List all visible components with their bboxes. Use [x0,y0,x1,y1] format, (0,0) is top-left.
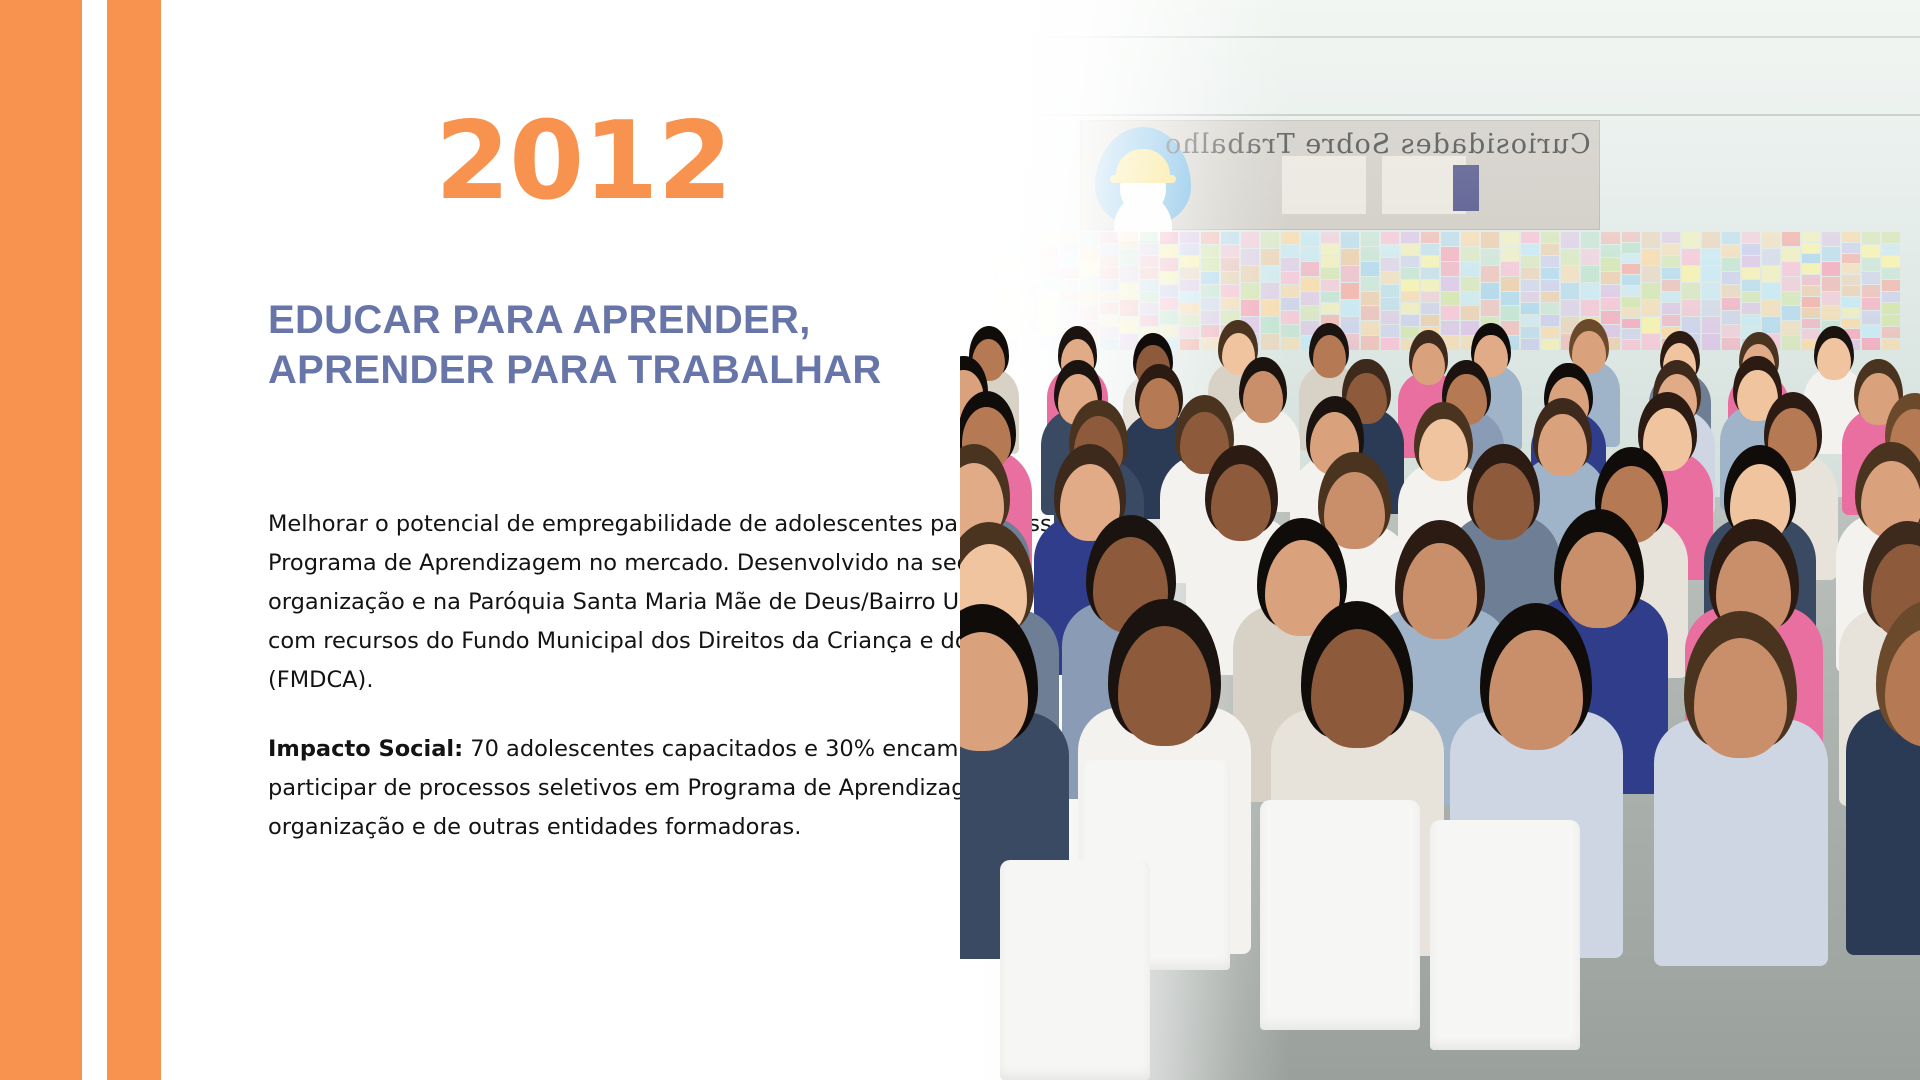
chart-cell [1301,277,1319,291]
chart-cell [1401,268,1419,279]
chart-cell [1201,338,1219,350]
chart-cell [1321,292,1339,303]
chart-cell [1441,232,1459,246]
chart-cell [1702,283,1720,299]
chart-cell [1762,249,1780,265]
chart-cell [1862,272,1880,284]
chart-cell [1341,266,1359,282]
chart-cell [1341,232,1359,248]
chart-cell [1221,272,1239,284]
chart-cell [1281,285,1299,297]
chart-cell [1762,232,1780,248]
chart-cell [1381,272,1399,284]
chart-cell [1742,292,1760,303]
student-head [1243,371,1283,423]
project-title: EDUCAR PARA APRENDER, APRENDER PARA TRAB… [268,296,1148,395]
chart-cell [1601,232,1619,244]
chart-strip [1180,232,1198,350]
chart-cell [1221,245,1239,257]
chart-cell [1221,298,1239,310]
chart-cell [1541,244,1559,255]
chart-cell [1381,298,1399,310]
student-torso [1846,708,1920,955]
chart-cell [1281,272,1299,284]
chart-cell [1521,339,1539,350]
chart-cell [1862,311,1880,323]
chart-cell [1601,285,1619,297]
chart-cell [1501,232,1519,246]
chart-cell [1461,247,1479,261]
chart-cell [1882,268,1900,279]
chart-cell [1762,266,1780,282]
chart-cell [1822,277,1840,291]
plastic-chair [1260,800,1420,1030]
chart-cell [1180,256,1198,267]
chart-cell [1401,244,1419,255]
chart-cell [1401,256,1419,267]
chart-strip [1702,232,1720,350]
chart-cell [1742,256,1760,267]
chart-cell [1261,266,1279,282]
chart-cell [1622,286,1640,296]
chart-cell [1441,262,1459,276]
chart-cell [1180,280,1198,291]
chart-cell [1742,303,1760,314]
chart-cell [1682,232,1700,248]
chart-strip [1201,232,1219,350]
chart-cell [1862,258,1880,270]
chart-cell [1642,283,1660,299]
chart-cell [1180,315,1198,326]
chart-cell [1862,298,1880,310]
slide-root: Curiosidades Sobre Trabalho 2012 EDUCAR … [0,0,1920,1080]
chart-cell [1521,303,1539,314]
chart-cell [1662,303,1680,314]
chart-cell [1561,300,1579,316]
chart-cell [1501,262,1519,276]
chart-cell [1481,283,1499,299]
chart-cell [1361,262,1379,276]
chart-cell [1501,247,1519,261]
chart-cell [1521,292,1539,303]
chart-cell [1180,303,1198,314]
chart-cell [1722,232,1740,244]
chart-cell [1682,283,1700,299]
chart-cell [1381,338,1399,350]
chart-cell [1541,315,1559,326]
chart-cell [1601,311,1619,323]
chart-cell [1361,336,1379,350]
chart-cell [1381,232,1399,244]
chart-cell [1842,308,1860,318]
chart-cell [1742,244,1760,255]
chart-cell [1842,243,1860,253]
chart-cell [1882,339,1900,350]
chart-strip [1281,232,1299,350]
chart-cell [1361,306,1379,320]
chart-cell [1241,232,1259,248]
chart-cell [1481,266,1499,282]
chart-cell [1201,258,1219,270]
chart-cell [1862,285,1880,297]
chart-cell [1782,262,1800,276]
chart-cell [1642,317,1660,333]
chart-cell [1762,283,1780,299]
orange-bar-thin [107,0,161,1080]
chart-cell [1201,245,1219,257]
chart-cell [1301,306,1319,320]
chart-cell [1281,258,1299,270]
chart-cell [1662,256,1680,267]
chart-cell [1642,266,1660,282]
chart-cell [1421,315,1439,326]
chart-cell [1742,232,1760,243]
chart-strip [1882,232,1900,350]
chart-strip [1642,232,1660,350]
chart-cell [1601,245,1619,257]
chart-cell [1201,298,1219,310]
chart-cell [1281,245,1299,257]
chart-cell [1742,280,1760,291]
chart-cell [1421,292,1439,303]
chart-cell [1581,283,1599,299]
chart-strip [1722,232,1740,350]
chart-cell [1702,317,1720,333]
chart-cell [1541,303,1559,314]
chart-cell [1241,249,1259,265]
chart-cell [1421,232,1439,243]
chart-cell [1882,256,1900,267]
chart-cell [1421,256,1439,267]
chart-cell [1842,297,1860,307]
chart-cell [1521,232,1539,243]
chart-cell [1401,280,1419,291]
chart-cell [1601,298,1619,310]
chart-cell [1481,249,1499,265]
chart-cell [1601,258,1619,270]
chart-cell [1722,258,1740,270]
chart-cell [1662,232,1680,243]
chart-strip [1401,232,1419,350]
student-head [1817,338,1850,380]
chart-cell [1541,232,1559,243]
chart-cell [1581,232,1599,248]
chart-cell [1341,249,1359,265]
chart-strip [1261,232,1279,350]
poster-column-1 [1281,155,1367,215]
chart-cell [1702,249,1720,265]
chart-cell [1882,232,1900,243]
chart-cell [1441,306,1459,320]
chart-cell [1581,266,1599,282]
chart-cell [1702,334,1720,350]
chart-cell [1441,247,1459,261]
plastic-chair [1000,860,1150,1080]
chart-cell [1241,300,1259,316]
chart-cell [1421,303,1439,314]
chart-cell [1201,272,1219,284]
chart-cell [1862,325,1880,337]
chart-cell [1180,339,1198,350]
chart-cell [1842,264,1860,274]
chart-cell [1301,262,1319,276]
chart-cell [1581,249,1599,265]
chart-cell [1261,334,1279,350]
chart-cell [1622,254,1640,264]
chart-cell [1401,315,1419,326]
chart-cell [1221,285,1239,297]
student-head [1313,335,1346,377]
chart-cell [1622,232,1640,242]
chart-cell [1862,245,1880,257]
chart-cell [1622,340,1640,350]
chart-cell [1742,268,1760,279]
chart-cell [1441,292,1459,306]
chart-cell [1722,272,1740,284]
chart-cell [1822,232,1840,246]
chart-cell [1882,292,1900,303]
chart-cell [1822,306,1840,320]
chart-cell [1501,277,1519,291]
chart-cell [1622,264,1640,274]
chart-cell [1822,292,1840,306]
chart-cell [1682,300,1700,316]
chart-cell [1321,268,1339,279]
chart-cell [1782,247,1800,261]
chart-cell [1201,325,1219,337]
chart-cell [1842,286,1860,296]
chart-cell [1722,338,1740,350]
chart-cell [1622,243,1640,253]
chart-cell [1381,285,1399,297]
chart-cell [1361,232,1379,246]
chart-cell [1221,258,1239,270]
chart-cell [1662,244,1680,255]
chart-cell [1261,249,1279,265]
chart-cell [1180,292,1198,303]
chart-cell [1381,325,1399,337]
chart-cell [1361,277,1379,291]
chart-cell [1541,268,1559,279]
chart-cell [1180,244,1198,255]
chart-cell [1321,232,1339,243]
chart-strip [1782,232,1800,350]
chart-cell [1261,300,1279,316]
chart-cell [1261,232,1279,248]
chart-cell [1401,292,1419,303]
chart-cell [1521,280,1539,291]
chart-strip [1521,232,1539,350]
chart-cell [1561,283,1579,299]
chart-cell [1722,311,1740,323]
chart-cell [1381,258,1399,270]
chart-cell [1481,232,1499,248]
chart-cell [1321,280,1339,291]
chart-cell [1301,247,1319,261]
chart-cell [1882,327,1900,338]
chart-cell [1642,232,1660,248]
chart-cell [1461,277,1479,291]
project-title-line-1: EDUCAR PARA APRENDER, [268,296,1148,346]
chart-cell [1722,285,1740,297]
chart-cell [1401,303,1419,314]
chart-cell [1782,232,1800,246]
chart-cell [1541,327,1559,338]
chart-cell [1201,232,1219,244]
chart-cell [1722,298,1740,310]
chart-cell [1682,249,1700,265]
chart-cell [1702,232,1720,248]
chart-cell [1682,317,1700,333]
chart-cell [1601,272,1619,284]
chart-cell [1762,317,1780,333]
chart-cell [1802,275,1820,285]
chart-cell [1802,232,1820,242]
chart-cell [1662,315,1680,326]
chart-cell [1180,327,1198,338]
chart-cell [1541,339,1559,350]
chart-cell [1241,266,1259,282]
chart-cell [1341,300,1359,316]
chart-cell [1581,300,1599,316]
chart-cell [1882,280,1900,291]
chart-cell [1862,232,1880,244]
chart-cell [1822,262,1840,276]
chart-cell [1722,325,1740,337]
chart-cell [1802,286,1820,296]
chart-cell [1441,277,1459,291]
chart-cell [1802,264,1820,274]
chart-cell [1281,338,1299,350]
chart-strip [1381,232,1399,350]
chart-cell [1541,292,1559,303]
chart-cell [1782,292,1800,306]
chart-cell [1862,338,1880,350]
chart-cell [1461,306,1479,320]
orange-bar-wide [0,0,82,1080]
chart-cell [1401,232,1419,243]
chart-cell [1461,232,1479,246]
chart-cell [1281,232,1299,244]
chart-cell [1321,244,1339,255]
chart-strip [1862,232,1880,350]
chart-cell [1221,232,1239,244]
chart-cell [1642,300,1660,316]
chart-cell [1180,268,1198,279]
chart-cell [1261,317,1279,333]
chart-cell [1782,336,1800,350]
chart-cell [1521,327,1539,338]
chart-cell [1201,285,1219,297]
chart-cell [1281,325,1299,337]
chart-cell [1381,311,1399,323]
chart-cell [1702,300,1720,316]
chart-cell [1822,247,1840,261]
chart-cell [1802,308,1820,318]
chart-cell [1341,283,1359,299]
chart-cell [1702,266,1720,282]
chart-cell [1642,334,1660,350]
poster-badge [1453,165,1479,211]
chart-cell [1782,306,1800,320]
chart-cell [1461,262,1479,276]
chart-cell [1321,303,1339,314]
chart-cell [1762,300,1780,316]
chart-strip [1441,232,1459,350]
chart-cell [1501,292,1519,306]
chart-cell [1882,244,1900,255]
chart-cell [1301,232,1319,246]
chart-cell [1842,254,1860,264]
student-head [1473,463,1533,540]
chart-cell [1802,297,1820,307]
chart-cell [1361,247,1379,261]
chart-cell [1481,300,1499,316]
chart-cell [1802,319,1820,329]
chart-cell [1521,256,1539,267]
chart-cell [1521,268,1539,279]
chart-cell [1842,319,1860,329]
chart-cell [1622,308,1640,318]
chart-cell [1842,275,1860,285]
chart-cell [1521,315,1539,326]
chart-cell [1682,266,1700,282]
chart-cell [1321,256,1339,267]
chart-cell [1341,317,1359,333]
chart-cell [1361,292,1379,306]
chart-cell [1421,244,1439,255]
chart-cell [1642,249,1660,265]
chart-strip [1541,232,1559,350]
impact-label: Impacto Social: [268,736,463,762]
chart-cell [1882,315,1900,326]
chart-cell [1842,232,1860,242]
year-heading: 2012 [435,108,732,216]
chart-cell [1501,306,1519,320]
student-head [1419,419,1468,482]
chart-cell [1281,298,1299,310]
chart-cell [1421,280,1439,291]
chart-cell [1802,243,1820,253]
plastic-chair [1430,820,1580,1050]
chart-strip [1802,232,1820,350]
chart-cell [1622,297,1640,307]
chart-cell [1722,245,1740,257]
chart-cell [1662,292,1680,303]
chart-cell [1180,232,1198,243]
chart-cell [1441,321,1459,335]
chart-strip [1622,232,1640,350]
chart-strip [1361,232,1379,350]
chart-cell [1662,268,1680,279]
chart-cell [1882,303,1900,314]
chart-cell [1622,319,1640,329]
chart-cell [1782,277,1800,291]
chart-cell [1802,254,1820,264]
chart-cell [1662,280,1680,291]
chart-cell [1461,292,1479,306]
chart-cell [1261,283,1279,299]
chart-cell [1301,292,1319,306]
poster-title-text: Curiosidades Sobre Trabalho [1164,129,1591,160]
chart-cell [1622,329,1640,339]
chart-cell [1521,244,1539,255]
chart-cell [1561,232,1579,248]
chart-cell [1561,266,1579,282]
chart-cell [1541,280,1559,291]
chart-cell [1421,268,1439,279]
student-head [1538,414,1587,477]
